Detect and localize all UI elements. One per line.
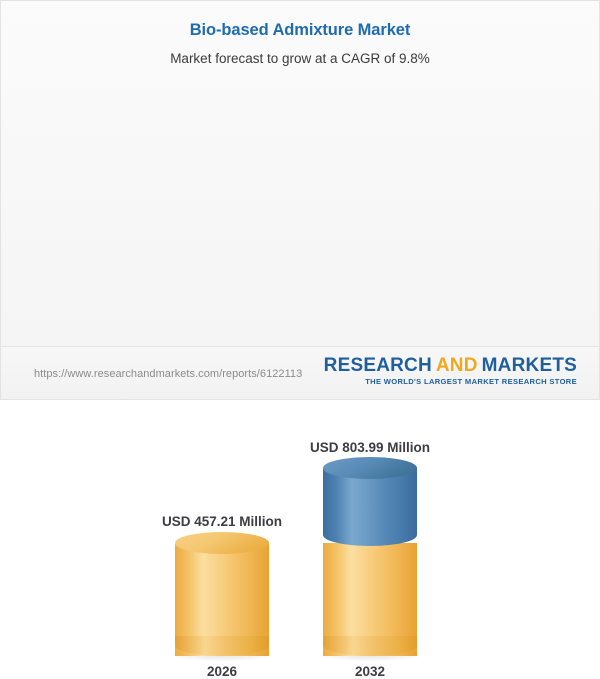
category-label-2032: 2032 <box>290 664 450 679</box>
chart-canvas: Bio-based Admixture Market Market foreca… <box>0 0 600 400</box>
footer: https://www.researchandmarkets.com/repor… <box>1 347 599 399</box>
logo-wordmark: RESEARCHANDMARKETS <box>324 355 577 376</box>
value-label-2032: USD 803.99 Million <box>290 440 450 455</box>
logo-word-research: RESEARCH <box>324 355 432 376</box>
logo-word-markets: MARKETS <box>482 355 577 376</box>
category-label-2026: 2026 <box>142 664 302 679</box>
research-and-markets-logo[interactable]: RESEARCHANDMARKETS THE WORLD'S LARGEST M… <box>324 355 577 386</box>
cylinder-cap-2032 <box>323 457 417 479</box>
value-label-2026: USD 457.21 Million <box>142 514 302 529</box>
logo-tagline: THE WORLD'S LARGEST MARKET RESEARCH STOR… <box>324 377 577 386</box>
cylinder-body-2032-growth <box>323 468 417 546</box>
cylinder-cap-2026 <box>175 532 269 554</box>
report-url-link[interactable]: https://www.researchandmarkets.com/repor… <box>34 368 302 380</box>
chart-plot-area: USD 457.21 Million 2026 USD 803.99 Milli… <box>1 1 599 346</box>
logo-word-and: AND <box>436 355 478 376</box>
